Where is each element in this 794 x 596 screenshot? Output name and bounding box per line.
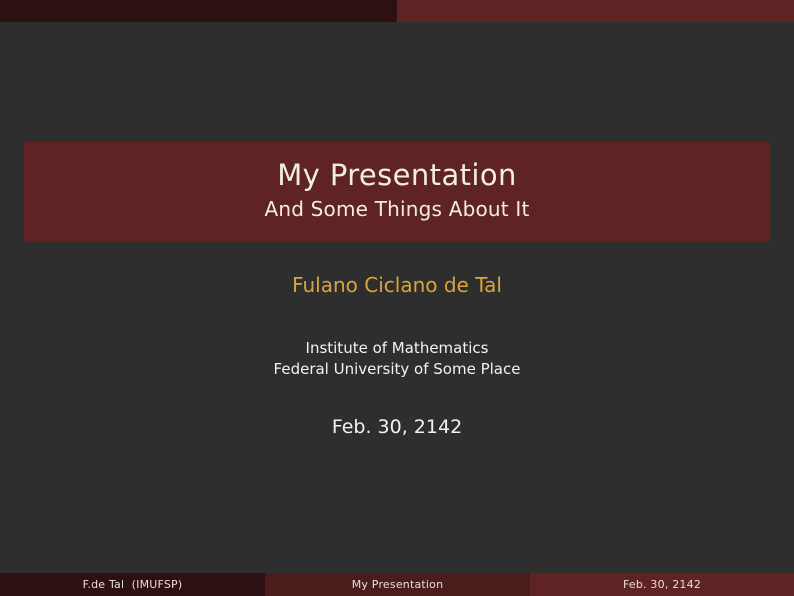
- institute-line-2: Federal University of Some Place: [0, 359, 794, 380]
- top-bar-left-segment: [0, 0, 397, 22]
- top-decoration-bar: [0, 0, 794, 22]
- title-page-metadata: Fulano Ciclano de Tal Institute of Mathe…: [0, 274, 794, 438]
- top-bar-right-segment: [397, 0, 794, 22]
- title-block: My Presentation And Some Things About It: [24, 142, 770, 242]
- presentation-date: Feb. 30, 2142: [0, 417, 794, 438]
- footer-date: Feb. 30, 2142: [530, 573, 794, 596]
- footer-author: F.de Tal (IMUFSP): [0, 573, 265, 596]
- page-subtitle: And Some Things About It: [264, 199, 529, 220]
- presentation-slide: My Presentation And Some Things About It…: [0, 0, 794, 596]
- institute-line-1: Institute of Mathematics: [0, 338, 794, 359]
- institute-block: Institute of Mathematics Federal Univers…: [0, 338, 794, 379]
- page-title: My Presentation: [277, 160, 517, 190]
- footer-title: My Presentation: [265, 573, 530, 596]
- slide-footer: F.de Tal (IMUFSP) My Presentation Feb. 3…: [0, 573, 794, 596]
- author-name: Fulano Ciclano de Tal: [0, 274, 794, 296]
